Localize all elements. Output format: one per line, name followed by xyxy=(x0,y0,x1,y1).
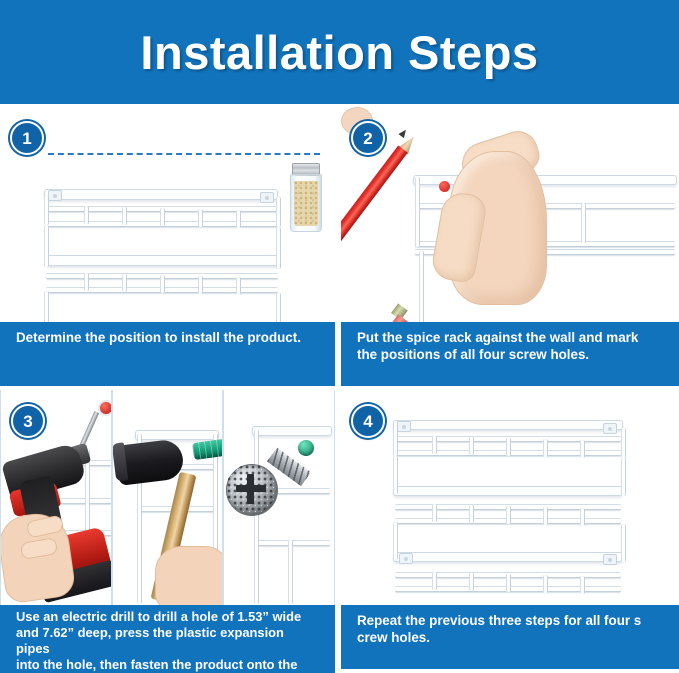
rack-side-wire xyxy=(415,177,420,247)
rack-mount-tab xyxy=(48,190,62,201)
rack-divider-wire xyxy=(198,209,203,227)
rack-divider-wire xyxy=(122,274,127,292)
rack-divider-wire xyxy=(160,208,165,226)
rack-side-wire xyxy=(276,227,281,269)
step-4-caption: Repeat the previous three steps for all … xyxy=(341,605,679,669)
rack-top-lip xyxy=(44,189,278,200)
step-1-cell: 1 xyxy=(0,107,338,390)
rack-divider-wire xyxy=(543,507,548,525)
drill-bit-tip xyxy=(98,400,112,416)
rack-side-wire xyxy=(621,458,626,496)
step-2-caption-line-2: the positions of all four screw holes. xyxy=(357,346,665,363)
rack-side-wire xyxy=(621,428,626,458)
rack-side-wire xyxy=(44,291,49,322)
rack-side-wire xyxy=(44,225,49,267)
rack-side-wire xyxy=(276,197,281,227)
rack-divider-wire xyxy=(84,206,89,224)
rack-side-wire xyxy=(288,540,293,604)
header-banner: Installation Steps xyxy=(0,0,679,104)
wall-mount-tab xyxy=(603,554,617,565)
rack-side-wire xyxy=(419,251,424,322)
step-1-caption-line: Determine the position to install the pr… xyxy=(16,329,321,346)
rack-side-wire xyxy=(393,426,398,456)
step-number-badge-3: 3 xyxy=(11,404,45,438)
rack-divider-wire xyxy=(236,210,241,228)
step-2-caption-line-1: Put the spice rack against the wall and … xyxy=(357,329,665,346)
step-number-badge-4: 4 xyxy=(351,404,385,438)
step-4-caption-line-1: Repeat the previous three steps for all … xyxy=(357,612,665,629)
rack-divider-wire xyxy=(122,207,127,225)
rack-divider-wire xyxy=(469,437,474,455)
pencil-eraser xyxy=(390,314,408,322)
step-4-illustration: 4 xyxy=(341,390,679,605)
rack-divider-wire xyxy=(469,573,474,591)
rack-side-wire xyxy=(393,456,398,494)
rack-divider-wire xyxy=(506,438,511,456)
fist-gripping-mallet xyxy=(155,546,224,605)
rack-divider-wire xyxy=(432,572,437,590)
step-3-illustration: 3 xyxy=(0,390,335,605)
rack-divider-wire xyxy=(580,440,585,458)
rack-divider-wire xyxy=(160,275,165,293)
rack-divider-wire xyxy=(581,203,586,243)
pencil-body xyxy=(341,145,408,280)
rack-top-lip xyxy=(393,420,623,430)
rack-bottom-lip xyxy=(393,552,623,562)
rack-divider-wire xyxy=(84,273,89,291)
jar-spice-contents xyxy=(294,181,318,226)
step-2-cell: 2 xyxy=(338,107,679,390)
rack-mount-tab xyxy=(260,192,274,203)
wall-mount-tab xyxy=(397,421,411,432)
rack-divider-wire xyxy=(506,574,511,592)
drill-hole-subpanel: 3 xyxy=(0,390,112,605)
step-4-caption-line-2: crew holes. xyxy=(357,629,665,646)
rack-side-wire xyxy=(254,430,259,604)
rack-divider-wire xyxy=(469,505,474,523)
page-title: Installation Steps xyxy=(140,25,538,80)
green-plug-in-wall xyxy=(298,440,314,456)
dashed-guideline-icon xyxy=(48,153,320,155)
step-number-badge-1: 1 xyxy=(10,121,44,155)
step-1-illustration: 1 xyxy=(0,107,335,322)
wall-mount-tab xyxy=(399,553,413,564)
rack-divider-wire xyxy=(432,504,437,522)
rack-mid-lip xyxy=(46,255,280,266)
red-mark-dot xyxy=(439,181,450,192)
rack-divider-wire xyxy=(432,436,437,454)
step-3-caption-line-2: and 7.62” deep, press the plastic expans… xyxy=(16,625,321,657)
rack-divider-wire xyxy=(236,277,241,295)
step-4-cell: 4 xyxy=(338,390,679,673)
human-hand-graphic xyxy=(341,107,679,135)
rack-side-wire xyxy=(393,522,398,560)
rack-mid-lip xyxy=(393,486,623,496)
step-3-cell: 3 xyxy=(0,390,338,673)
step-3-caption-line-1: Use an electric drill to drill a hole of… xyxy=(16,609,321,625)
rack-top-lip xyxy=(252,426,332,436)
rack-side-wire xyxy=(276,293,281,322)
installation-steps-grid: 1 xyxy=(0,107,679,673)
expansion-plug-ribs xyxy=(192,437,224,460)
rack-top-lip xyxy=(135,430,219,440)
step-1-caption: Determine the position to install the pr… xyxy=(0,322,335,386)
screw-fasten-subpanel xyxy=(223,390,335,605)
screw-phillips-slot xyxy=(236,485,266,492)
rack-side-wire xyxy=(621,524,626,562)
step-number-badge-2: 2 xyxy=(351,121,385,155)
hammer-plug-subpanel xyxy=(112,390,224,605)
rack-divider-wire xyxy=(198,276,203,294)
step-3-caption: Use an electric drill to drill a hole of… xyxy=(0,605,335,673)
rack-divider-wire xyxy=(506,506,511,524)
step-3-caption-line-3: into the hole, then fasten the product o… xyxy=(16,657,321,673)
rack-divider-wire xyxy=(580,576,585,594)
rack-side-wire xyxy=(44,195,49,225)
rack-divider-wire xyxy=(580,508,585,526)
step-2-caption: Put the spice rack against the wall and … xyxy=(341,322,679,386)
rack-divider-wire xyxy=(543,575,548,593)
rack-top-lip xyxy=(413,175,677,185)
step-2-illustration: 2 xyxy=(341,107,679,322)
wall-mount-tab xyxy=(603,423,617,434)
jar-body xyxy=(290,174,322,232)
rack-divider-wire xyxy=(543,439,548,457)
